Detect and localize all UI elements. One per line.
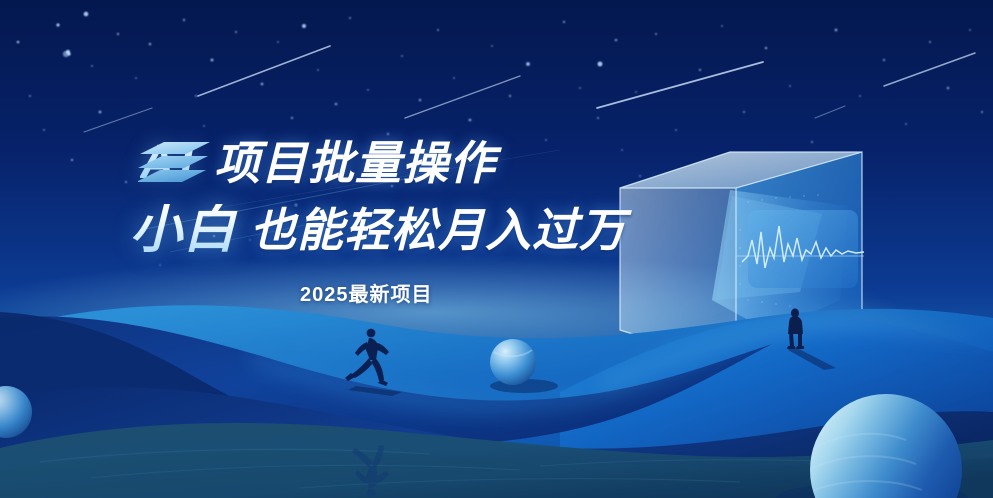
waveform-screen bbox=[748, 210, 858, 288]
promo-poster: AI 项目批量操作 小白 bbox=[0, 0, 993, 498]
scene-illustration bbox=[0, 0, 993, 498]
small-sphere bbox=[490, 339, 536, 385]
